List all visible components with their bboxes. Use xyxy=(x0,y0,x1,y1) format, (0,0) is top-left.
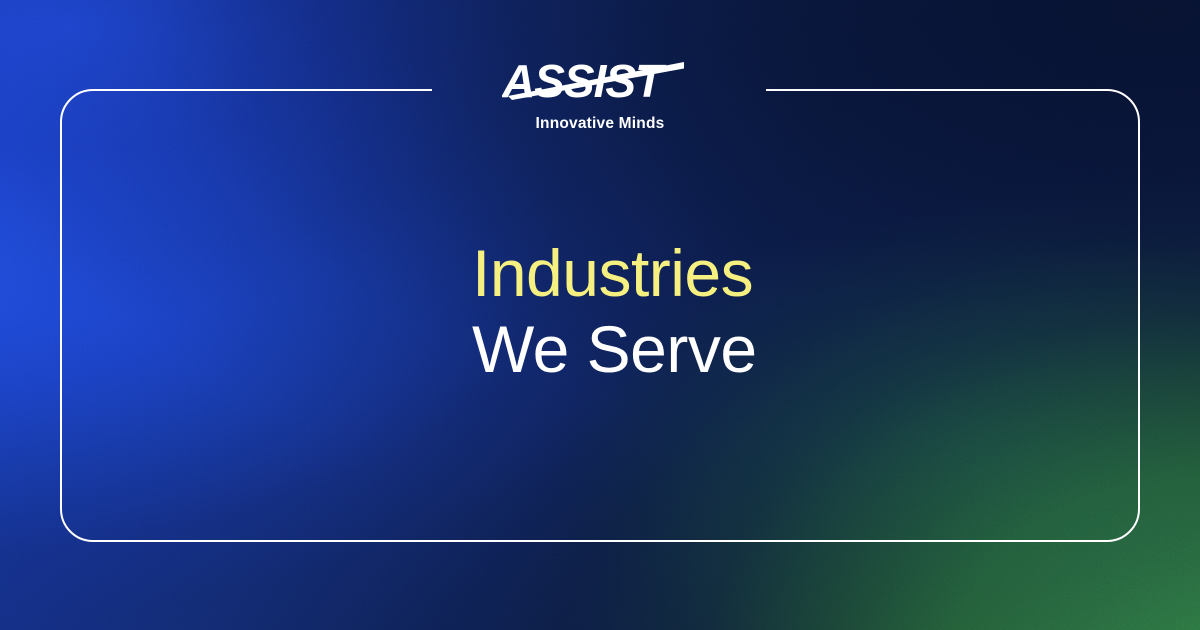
assist-swoosh-logo: ASSIST xyxy=(502,60,698,111)
page-title: Industries We Serve xyxy=(472,236,992,386)
industries-we-serve-banner: ASSIST Innovative Minds Industries We Se… xyxy=(0,0,1200,630)
page-title-line-1: Industries xyxy=(472,236,992,310)
page-title-line-2: We Serve xyxy=(472,312,992,386)
assist-logo-lockup: ASSIST Innovative Minds xyxy=(0,60,1200,132)
logo-tagline: Innovative Minds xyxy=(536,116,665,132)
